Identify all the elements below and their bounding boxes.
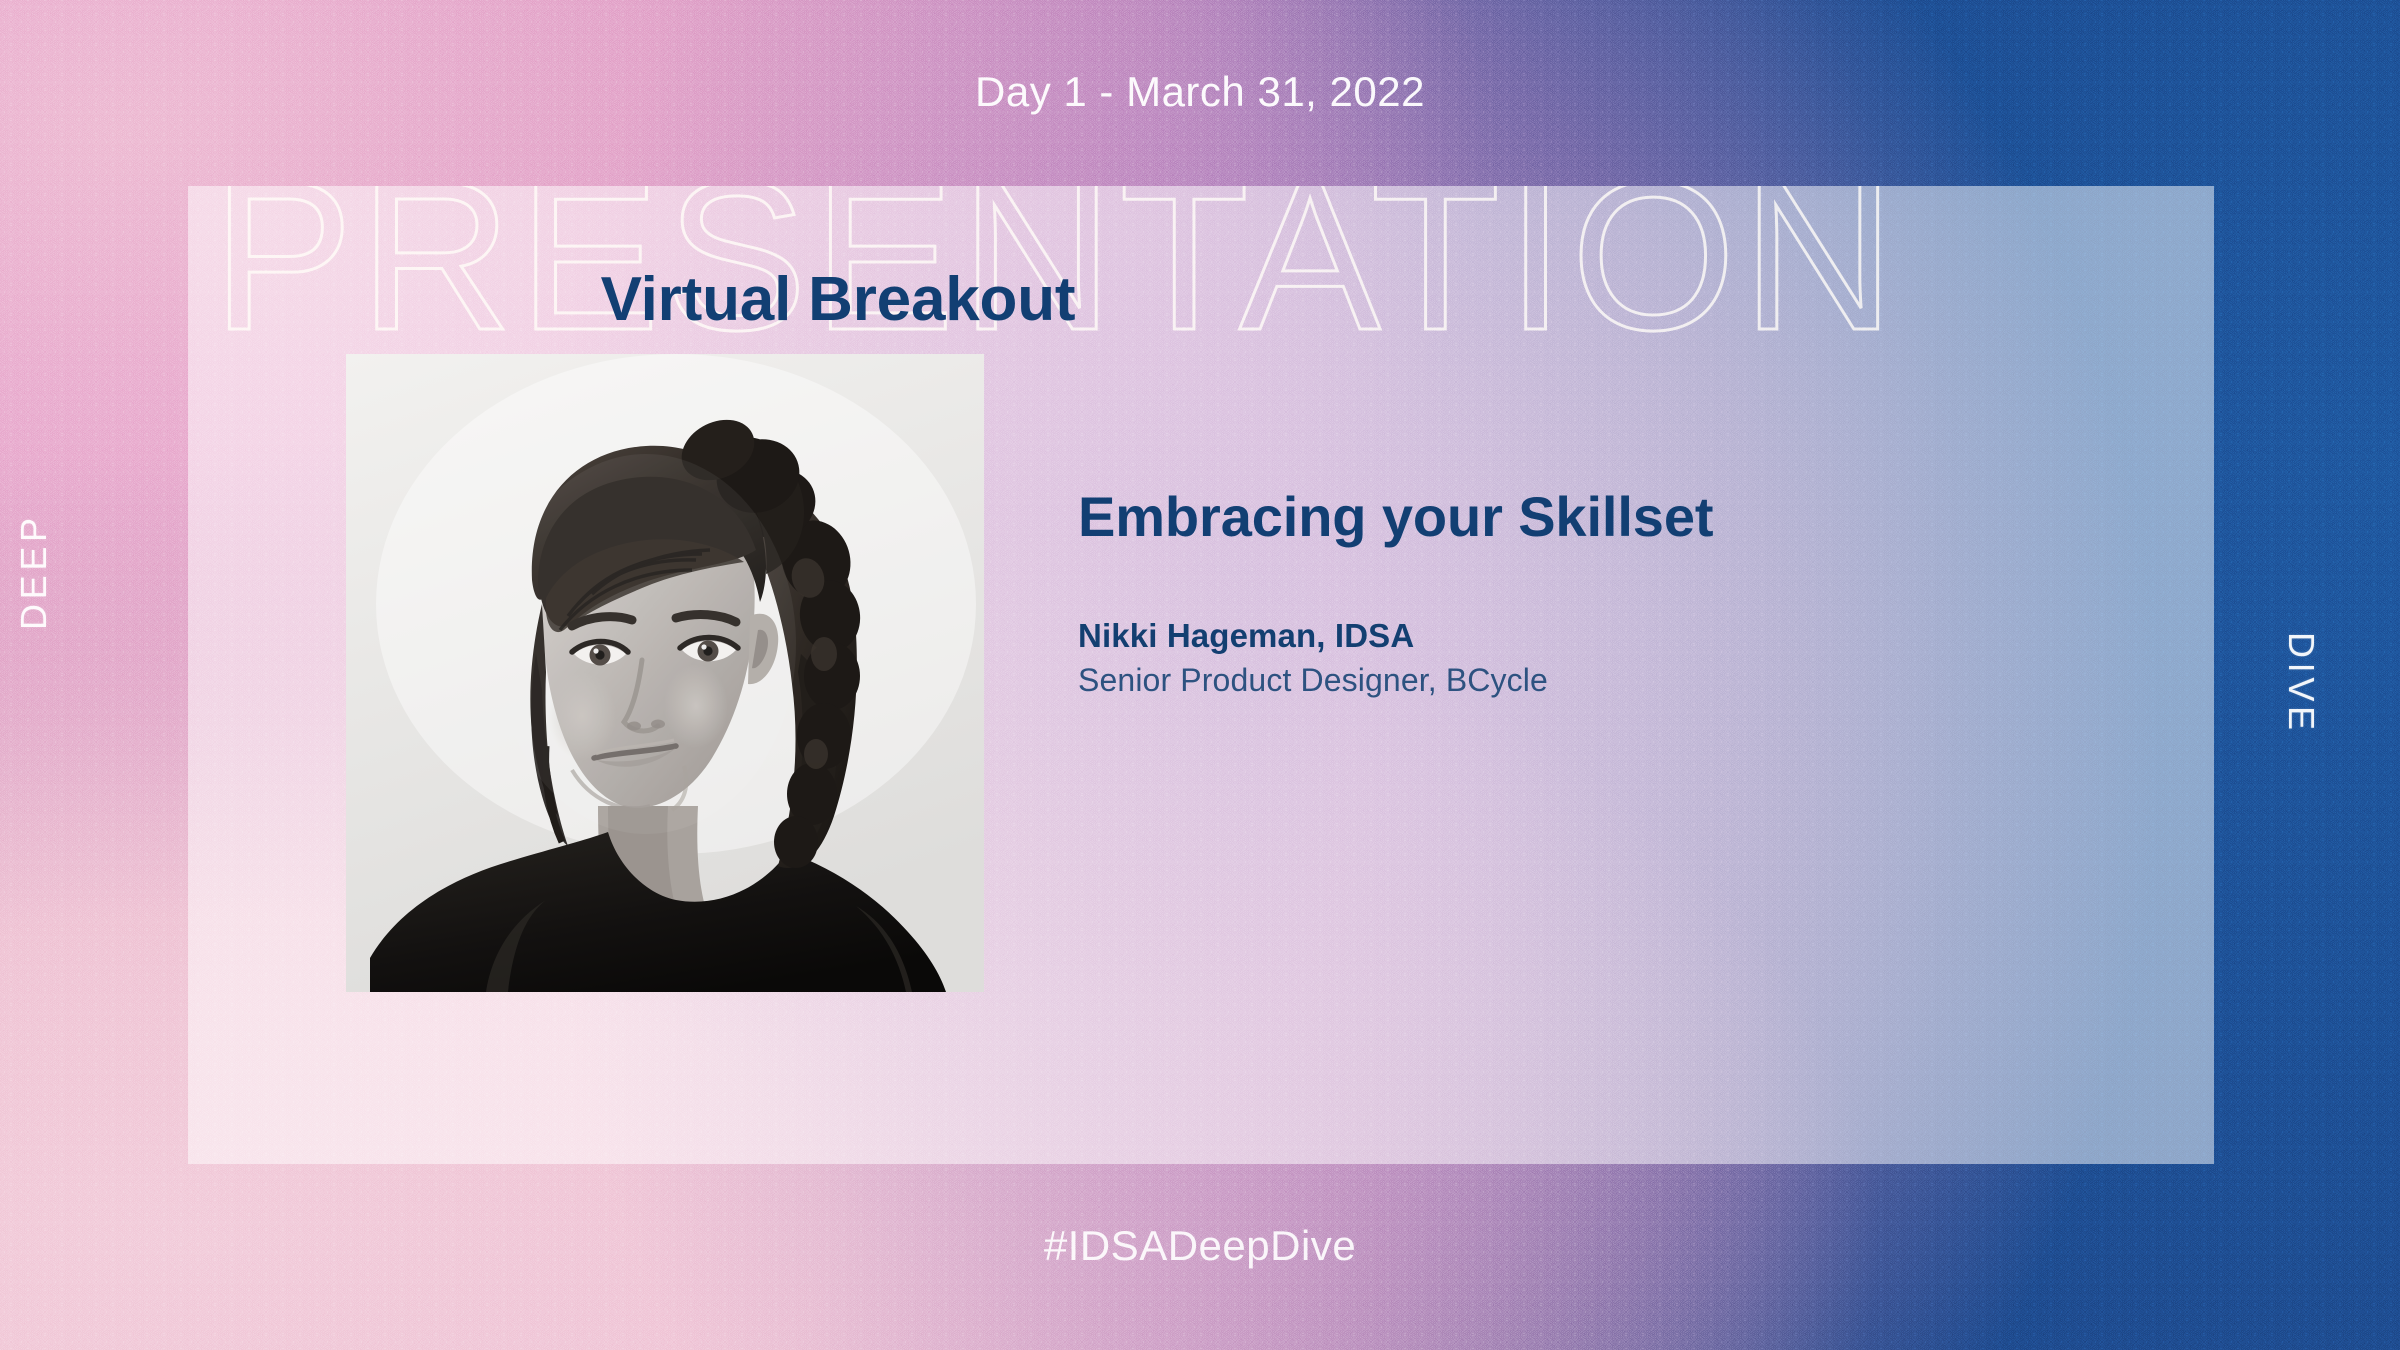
content-card: PRESENTATION Virtual Breakout [188, 186, 2214, 1164]
session-details: Embracing your Skillset Nikki Hageman, I… [1078, 484, 2078, 699]
event-hashtag: #IDSADeepDive [0, 1222, 2400, 1270]
session-title: Embracing your Skillset [1078, 484, 2078, 549]
session-type-headline: Virtual Breakout [188, 264, 1488, 335]
presentation-slide: DEEP DIVE Day 1 - March 31, 2022 PRESENT… [0, 0, 2400, 1350]
edge-label-deep: DEEP [13, 513, 55, 630]
speaker-name: Nikki Hageman, IDSA [1078, 617, 2078, 655]
edge-label-dive: DIVE [2280, 632, 2322, 735]
event-date-line: Day 1 - March 31, 2022 [0, 68, 2400, 116]
speaker-portrait-icon [346, 354, 984, 992]
speaker-role: Senior Product Designer, BCycle [1078, 662, 2078, 699]
